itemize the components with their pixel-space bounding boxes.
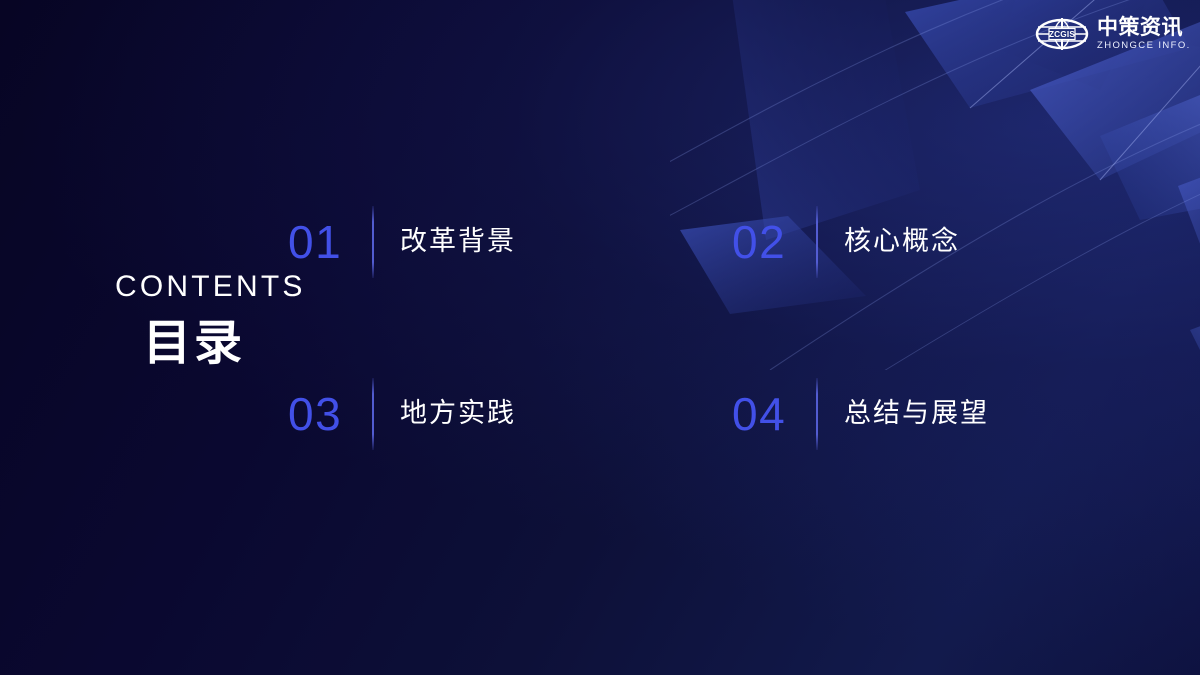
agenda-item-02[interactable]: 02 核心概念 — [732, 196, 1048, 288]
agenda-item-title: 改革背景 — [400, 227, 516, 257]
divider — [816, 206, 818, 278]
agenda-item-title: 核心概念 — [844, 227, 960, 257]
page-title-en: CONTENTS — [115, 272, 306, 302]
logo-name-cn: 中策资讯 — [1097, 16, 1191, 38]
logo-wordmark: 中策资讯 ZHONGCE INFO. — [1097, 16, 1191, 51]
logo-mark-text: ZCGIS — [1049, 30, 1075, 39]
divider — [372, 206, 374, 278]
globe-icon: ZCGIS — [1035, 15, 1089, 53]
agenda-item-number: 02 — [732, 219, 810, 265]
page-title: CONTENTS 目录 — [115, 272, 306, 367]
agenda-list: 01 改革背景 02 核心概念 03 地方实践 04 总结与展望 — [288, 196, 1048, 460]
agenda-item-number: 01 — [288, 219, 366, 265]
contents-slide: ZCGIS 中策资讯 ZHONGCE INFO. CONTENTS 目录 01 … — [0, 0, 1200, 675]
agenda-item-title: 地方实践 — [400, 399, 516, 429]
agenda-item-03[interactable]: 03 地方实践 — [288, 368, 732, 460]
company-logo: ZCGIS 中策资讯 ZHONGCE INFO. — [1035, 15, 1191, 53]
agenda-item-01[interactable]: 01 改革背景 — [288, 196, 732, 288]
page-title-cn: 目录 — [143, 319, 306, 367]
agenda-item-04[interactable]: 04 总结与展望 — [732, 368, 1048, 460]
divider — [372, 378, 374, 450]
agenda-item-number: 03 — [288, 391, 366, 437]
agenda-item-number: 04 — [732, 391, 810, 437]
logo-name-en: ZHONGCE INFO. — [1097, 40, 1191, 52]
agenda-item-title: 总结与展望 — [844, 399, 989, 429]
divider — [816, 378, 818, 450]
